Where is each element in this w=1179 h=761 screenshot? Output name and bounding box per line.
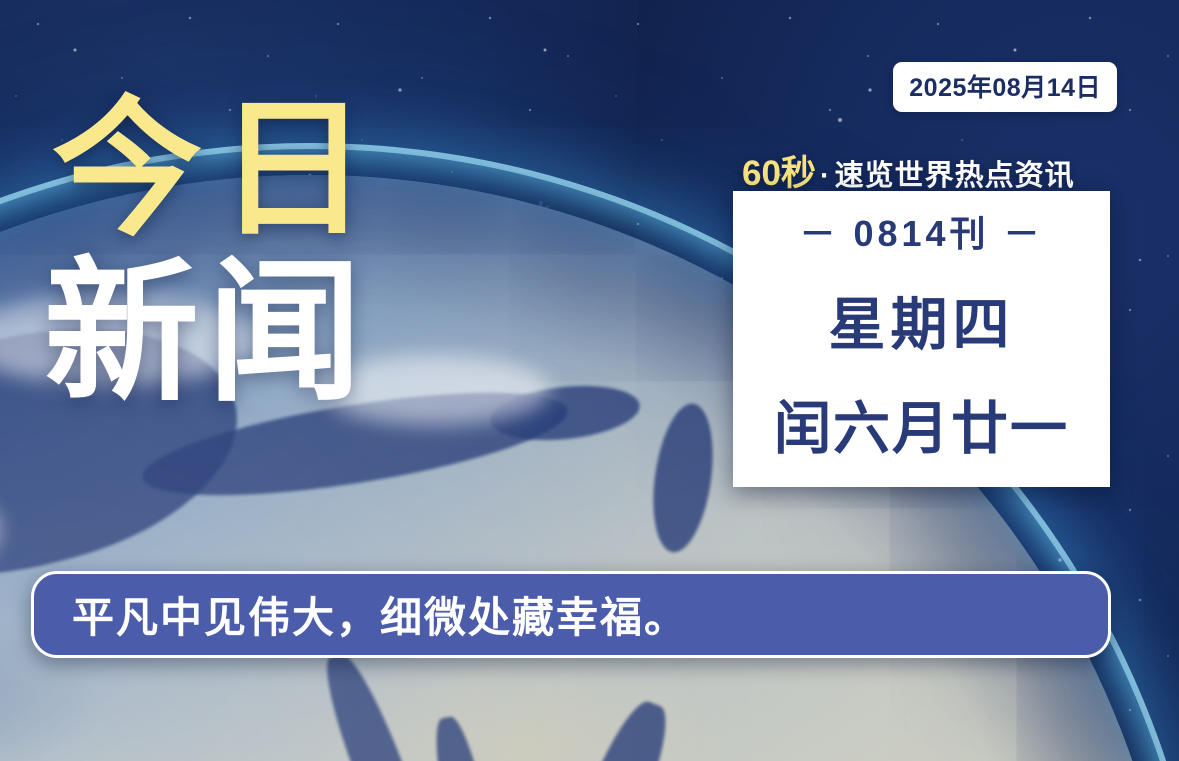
tagline: 60秒·速览世界热点资讯 — [742, 145, 1075, 196]
lunar-date-label: 闰六月廿一 — [774, 383, 1069, 465]
weekday-label: 星期四 — [829, 279, 1015, 361]
tagline-seconds: 60秒 — [742, 154, 816, 193]
tagline-text: 速览世界热点资讯 — [835, 160, 1075, 192]
info-card: － 0814刊 － 星期四 闰六月廿一 — [733, 191, 1110, 487]
tagline-separator: · — [820, 160, 831, 192]
quote-banner: 平凡中见伟大，细微处藏幸福。 — [31, 571, 1111, 658]
title-line-today: 今日 — [52, 96, 384, 243]
poster-title: 今日 新闻 — [52, 96, 384, 409]
title-line-news: 新闻 — [44, 257, 384, 409]
date-badge: 2025年08月14日 — [893, 62, 1117, 112]
quote-text: 平凡中见伟大，细微处藏幸福。 — [72, 584, 688, 645]
news-poster: sasick 今日 新闻 2025年08月14日 60秒·速览世界热点资讯 － … — [0, 0, 1179, 761]
issue-number: － 0814刊 － — [799, 205, 1043, 257]
